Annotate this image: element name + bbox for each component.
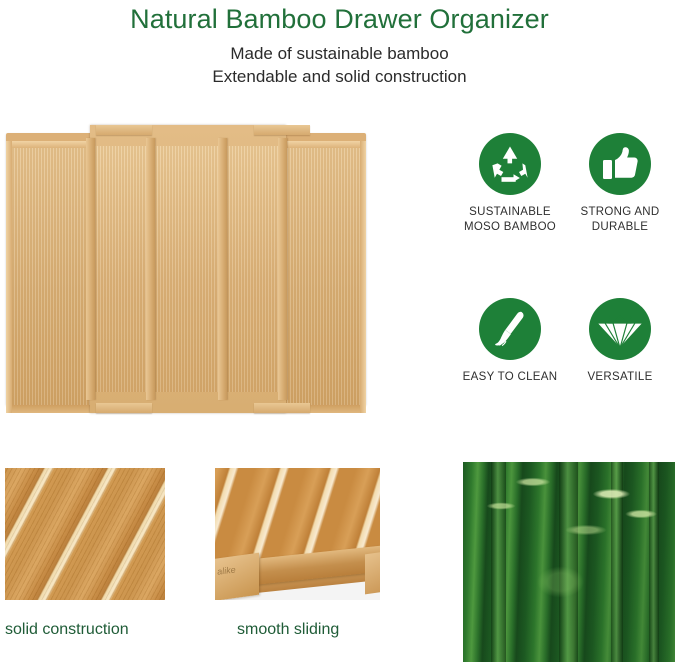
- caption-solid-construction: solid construction: [5, 620, 129, 640]
- solid-construction-photo: [5, 468, 165, 600]
- bamboo-leaves: [463, 462, 675, 662]
- organizer-rim-right: [360, 141, 366, 413]
- compartment-divider-1: [86, 138, 95, 400]
- slide-tab-top-left: [96, 125, 152, 135]
- slide-tab-bottom-left: [96, 403, 152, 413]
- organizer-tray-floor: [94, 146, 282, 392]
- feature-badge-grid: SUSTAINABLE MOSO BAMBOO STRONG AND DURAB…: [455, 133, 675, 403]
- sliding-rail-end-block: [365, 550, 380, 595]
- compartment-divider-3: [218, 138, 227, 400]
- feature-sustainable-moso-bamboo: SUSTAINABLE MOSO BAMBOO: [455, 133, 565, 235]
- compartment-divider-2: [146, 138, 155, 400]
- feature-label: STRONG AND DURABLE: [565, 205, 675, 235]
- slide-tab-top-right: [254, 125, 310, 135]
- diamond-icon: [589, 298, 651, 360]
- feature-label: SUSTAINABLE MOSO BAMBOO: [455, 205, 565, 235]
- feature-label-line-1: VERSATILE: [587, 371, 652, 383]
- feature-strong-and-durable: STRONG AND DURABLE: [565, 133, 675, 235]
- recycle-icon: [479, 133, 541, 195]
- subtitle-line-2: Extendable and solid construction: [0, 65, 679, 88]
- feature-label-line-1: STRONG AND: [580, 206, 659, 218]
- brush-icon: [479, 298, 541, 360]
- feature-versatile: VERSATILE: [565, 298, 675, 385]
- compartment-divider-4: [278, 138, 287, 400]
- thumbs-up-icon: [589, 133, 651, 195]
- bamboo-forest-photo: [463, 462, 675, 662]
- organizer-rim-left: [6, 141, 12, 413]
- smooth-sliding-photo: alike: [215, 468, 380, 600]
- feature-easy-to-clean: EASY TO CLEAN: [455, 298, 565, 385]
- infographic-canvas: Natural Bamboo Drawer Organizer Made of …: [0, 0, 679, 668]
- feature-label-line-2: MOSO BAMBOO: [464, 221, 556, 233]
- feature-label: EASY TO CLEAN: [455, 370, 565, 385]
- feature-label-line-1: EASY TO CLEAN: [463, 371, 558, 383]
- subtitle-line-1: Made of sustainable bamboo: [0, 42, 679, 65]
- slide-tab-bottom-right: [254, 403, 310, 413]
- feature-label: VERSATILE: [565, 370, 675, 385]
- sliding-rail-brand-block: [215, 553, 259, 600]
- feature-label-line-2: DURABLE: [592, 221, 648, 233]
- page-title: Natural Bamboo Drawer Organizer: [0, 2, 679, 36]
- organizer-sliding-tray: [90, 125, 286, 413]
- product-hero-photo: [6, 125, 366, 413]
- caption-smooth-sliding: smooth sliding: [237, 620, 339, 640]
- feature-label-line-1: SUSTAINABLE: [469, 206, 551, 218]
- bamboo-slats-texture: [5, 468, 165, 600]
